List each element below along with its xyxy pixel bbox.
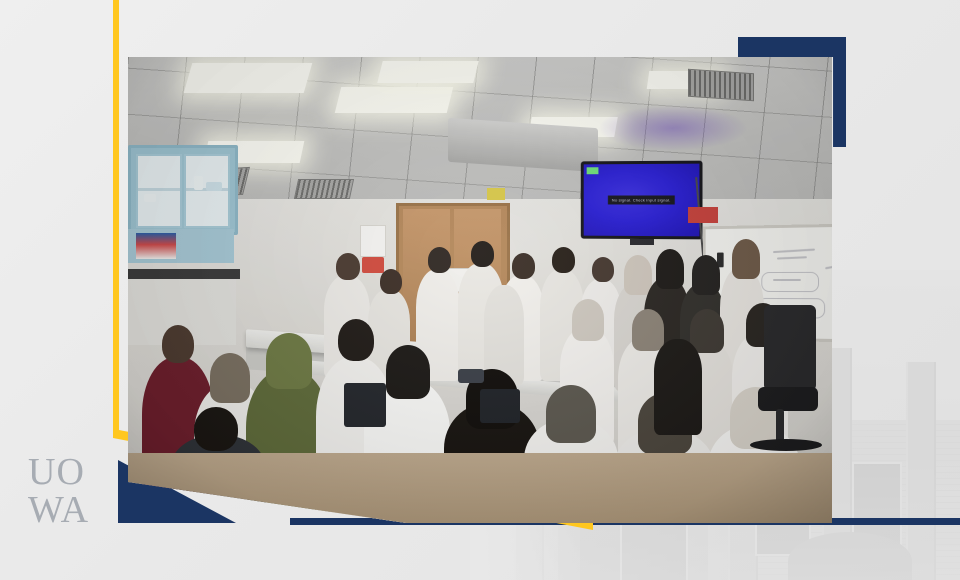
person-head: [552, 247, 575, 273]
ceiling-light-panel: [377, 61, 478, 83]
slide-canvas: No signal. Check input signal.: [0, 0, 960, 580]
logo-line-wa: WA: [28, 493, 108, 529]
person-headscarf: [690, 309, 724, 353]
tv-wall-bracket: [630, 239, 654, 245]
person-head: [592, 257, 614, 282]
whiteboard-writing: [773, 249, 815, 254]
cabinet-item: [144, 194, 156, 202]
yellow-accent-line-vertical: [113, 0, 119, 436]
person-headscarf: [656, 249, 684, 289]
ceiling-light-panel: [335, 87, 453, 113]
tv-status-badge: [587, 167, 599, 174]
person-headscarf: [266, 333, 312, 389]
cabinet-bottle: [194, 176, 203, 190]
tv-message: No signal. Check input signal.: [608, 195, 675, 204]
cabinet-glass-door: [184, 154, 230, 228]
laptop-bag: [344, 383, 386, 427]
person-headscarf: [572, 299, 604, 341]
person-headscarf: [624, 255, 652, 295]
person-head: [428, 247, 451, 273]
fire-safety-sign: [362, 257, 384, 273]
person-headscarf: [632, 309, 664, 351]
person-headscarf: [210, 353, 250, 403]
leaflet-display: [136, 233, 176, 259]
ceiling-air-vent: [688, 69, 754, 102]
wall-mounted-tv: No signal. Check input signal.: [581, 161, 703, 240]
uowa-logo: UO WA: [28, 455, 108, 528]
person-head: [162, 325, 194, 363]
person-head: [380, 269, 402, 294]
logo-line-uo: UO: [28, 455, 108, 491]
whiteboard-writing: [777, 256, 807, 259]
cabinet-shelf: [138, 188, 180, 191]
person-head: [471, 241, 494, 267]
office-chair-column: [776, 409, 784, 443]
wall-poster: [688, 207, 718, 223]
tv-screen: No signal. Check input signal.: [584, 164, 700, 237]
person-head: [512, 253, 535, 279]
whiteboard-writing: [773, 279, 801, 281]
door-top-plaque: [487, 188, 505, 200]
person-headscarf: [546, 385, 596, 443]
person-head: [338, 319, 374, 361]
photo-scene-laboratory-classroom: No signal. Check input signal.: [128, 57, 832, 523]
person-head: [194, 407, 238, 451]
ceiling-light-panel: [184, 63, 313, 93]
office-chair-seat: [758, 387, 818, 411]
backpack: [480, 389, 520, 423]
person-foreground: [654, 339, 702, 435]
person-headscarf: [386, 345, 430, 399]
wall-cabinet: [128, 145, 238, 235]
ceiling-air-vent: [294, 179, 354, 199]
person-head: [336, 253, 360, 280]
person-headscarf: [732, 239, 760, 279]
office-chair-backrest: [764, 305, 816, 391]
notebook: [458, 369, 484, 383]
cabinet-box: [206, 182, 222, 191]
whiteboard-diagram-box: [761, 272, 819, 292]
office-chair-base: [750, 439, 822, 451]
person-headscarf: [692, 255, 720, 295]
cabinet-glass-door: [136, 154, 182, 228]
main-photo: No signal. Check input signal.: [128, 57, 832, 523]
wall-notice: [360, 225, 386, 257]
whiteboard-writing: [825, 264, 832, 269]
side-bench-top: [128, 269, 240, 279]
projector-light-haze: [598, 105, 748, 151]
